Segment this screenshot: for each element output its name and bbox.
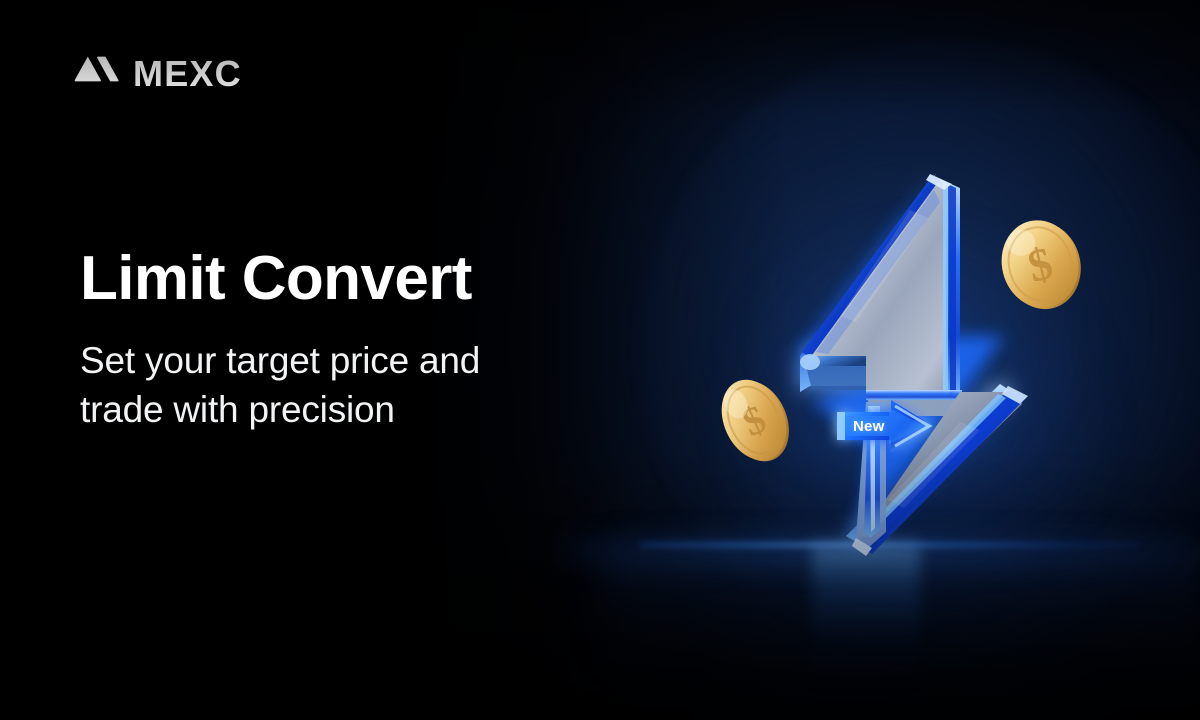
background-bottom-fade [0,0,1200,720]
promo-banner: MEXC Limit Convert Set your target price… [0,0,1200,720]
